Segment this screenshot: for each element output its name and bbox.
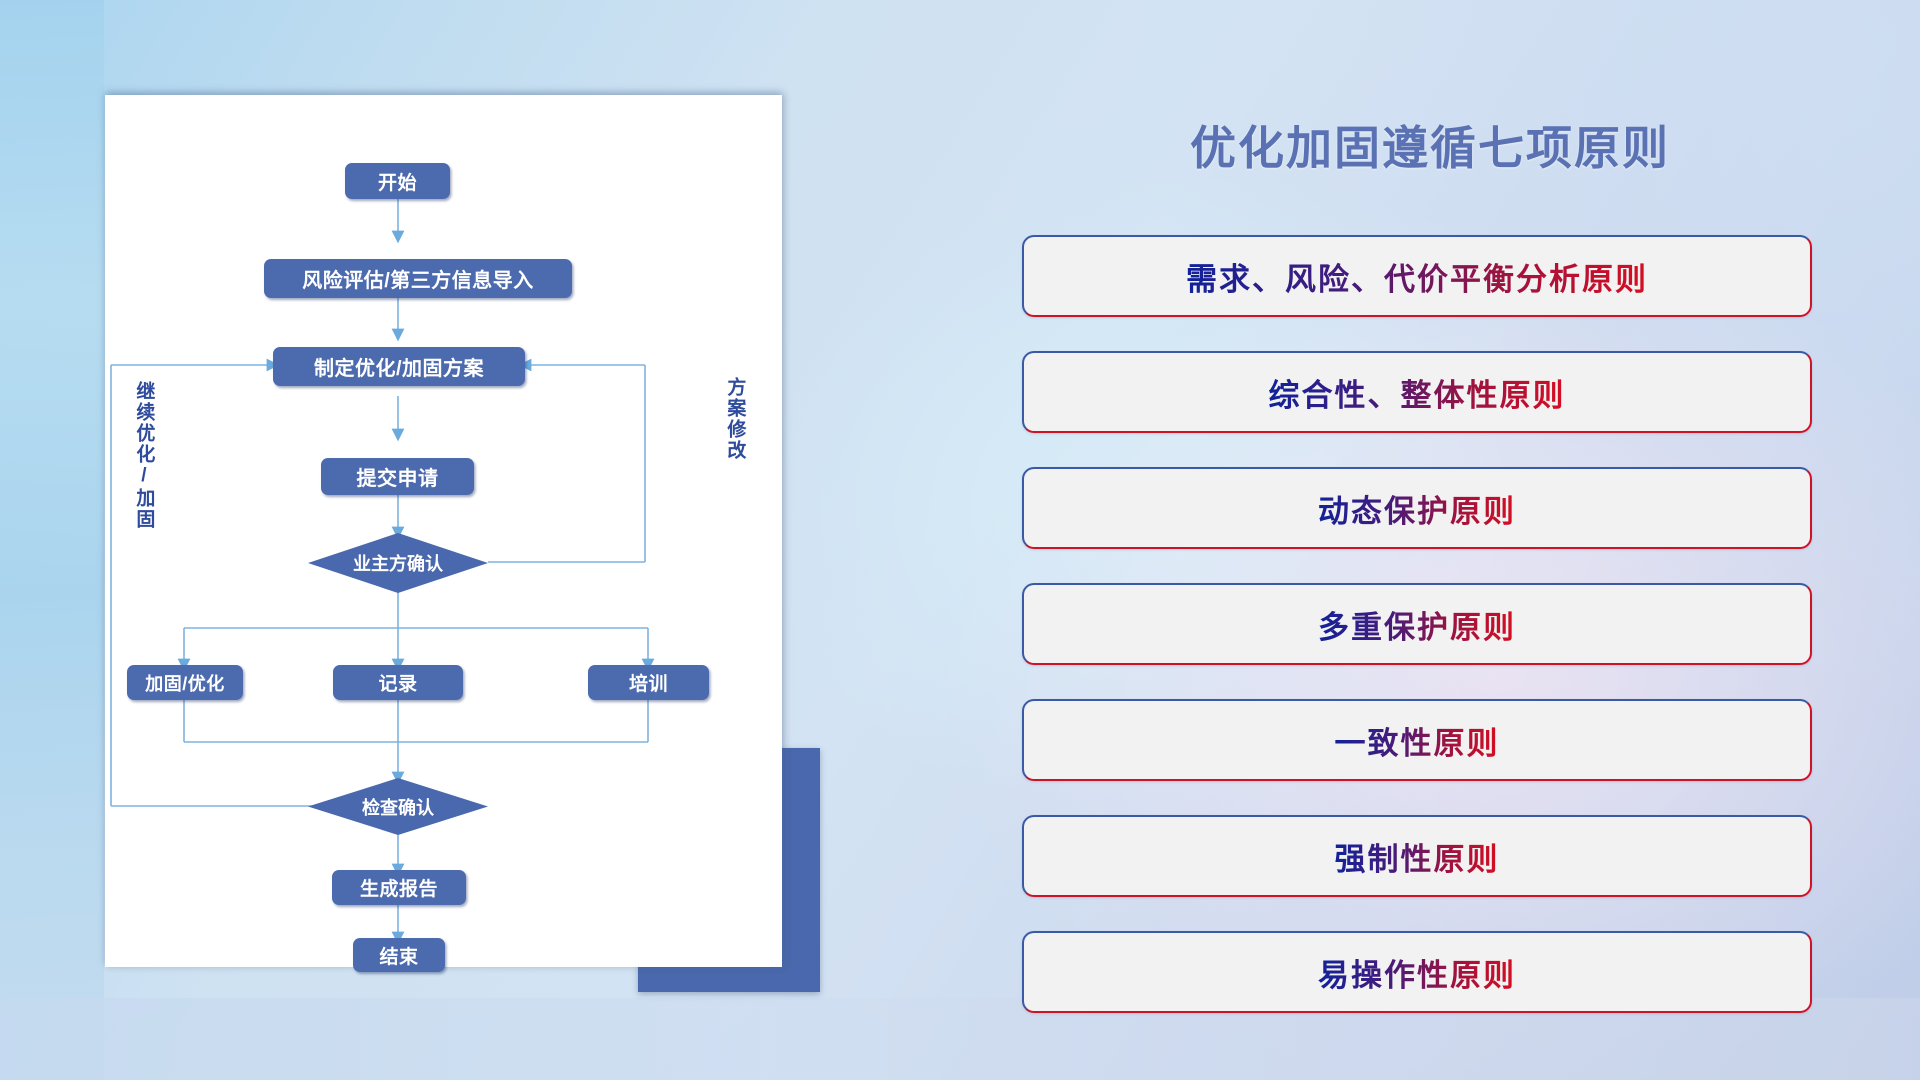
- flow-node-label: 检查确认: [362, 794, 434, 820]
- flow-node-training[interactable]: 培训: [588, 665, 709, 700]
- flow-node-submit-application[interactable]: 提交申请: [321, 458, 474, 495]
- principle-card[interactable]: 一致性原则: [1022, 699, 1812, 781]
- flowchart-connectors: [105, 95, 782, 967]
- principle-card-label: 多重保护原则: [1318, 602, 1516, 647]
- principle-card-label: 一致性原则: [1335, 718, 1500, 763]
- principle-card-label: 易操作性原则: [1318, 950, 1516, 995]
- flow-node-reinforce-optimize[interactable]: 加固/优化: [127, 665, 243, 700]
- principle-card-label: 需求、风险、代价平衡分析原则: [1186, 254, 1648, 299]
- principle-card-label: 动态保护原则: [1318, 486, 1516, 531]
- principle-card-label: 强制性原则: [1335, 834, 1500, 879]
- principle-card[interactable]: 易操作性原则: [1022, 931, 1812, 1013]
- principle-card[interactable]: 多重保护原则: [1022, 583, 1812, 665]
- principle-card[interactable]: 综合性、整体性原则: [1022, 351, 1812, 433]
- principle-card[interactable]: 动态保护原则: [1022, 467, 1812, 549]
- flow-node-generate-report[interactable]: 生成报告: [332, 870, 466, 905]
- flow-node-label: 风险评估/第三方信息导入: [302, 264, 534, 293]
- principle-card-label: 综合性、整体性原则: [1269, 370, 1566, 415]
- flow-node-label: 提交申请: [357, 462, 439, 491]
- flow-node-start[interactable]: 开始: [345, 163, 450, 199]
- principle-card[interactable]: 强制性原则: [1022, 815, 1812, 897]
- flow-node-risk-assessment[interactable]: 风险评估/第三方信息导入: [264, 259, 572, 298]
- flow-node-label: 记录: [378, 669, 417, 696]
- flow-node-label: 制定优化/加固方案: [314, 352, 484, 381]
- flowchart-panel: 开始 风险评估/第三方信息导入 制定优化/加固方案 提交申请 业主方确认 加固/…: [105, 95, 782, 967]
- flow-edge-label-continue-optimize: 继续优化/加固: [134, 381, 153, 530]
- principle-card[interactable]: 需求、风险、代价平衡分析原则: [1022, 235, 1812, 317]
- principles-list: 需求、风险、代价平衡分析原则 综合性、整体性原则 动态保护原则 多重保护原则 一…: [1022, 235, 1812, 1047]
- flow-node-label: 加固/优化: [145, 670, 225, 696]
- flow-node-label: 结束: [379, 942, 418, 969]
- flow-node-label: 开始: [378, 168, 417, 195]
- principles-heading: 优化加固遵循七项原则: [1020, 112, 1840, 178]
- flow-edge-label-plan-revision: 方案修改: [725, 377, 744, 461]
- flow-node-label: 生成报告: [360, 874, 438, 901]
- flow-node-record[interactable]: 记录: [333, 665, 463, 700]
- background-left-band: [0, 0, 104, 1080]
- flow-node-label: 业主方确认: [353, 550, 443, 576]
- flow-node-end[interactable]: 结束: [353, 938, 445, 972]
- flow-node-make-plan[interactable]: 制定优化/加固方案: [273, 347, 525, 386]
- flow-node-label: 培训: [629, 669, 668, 696]
